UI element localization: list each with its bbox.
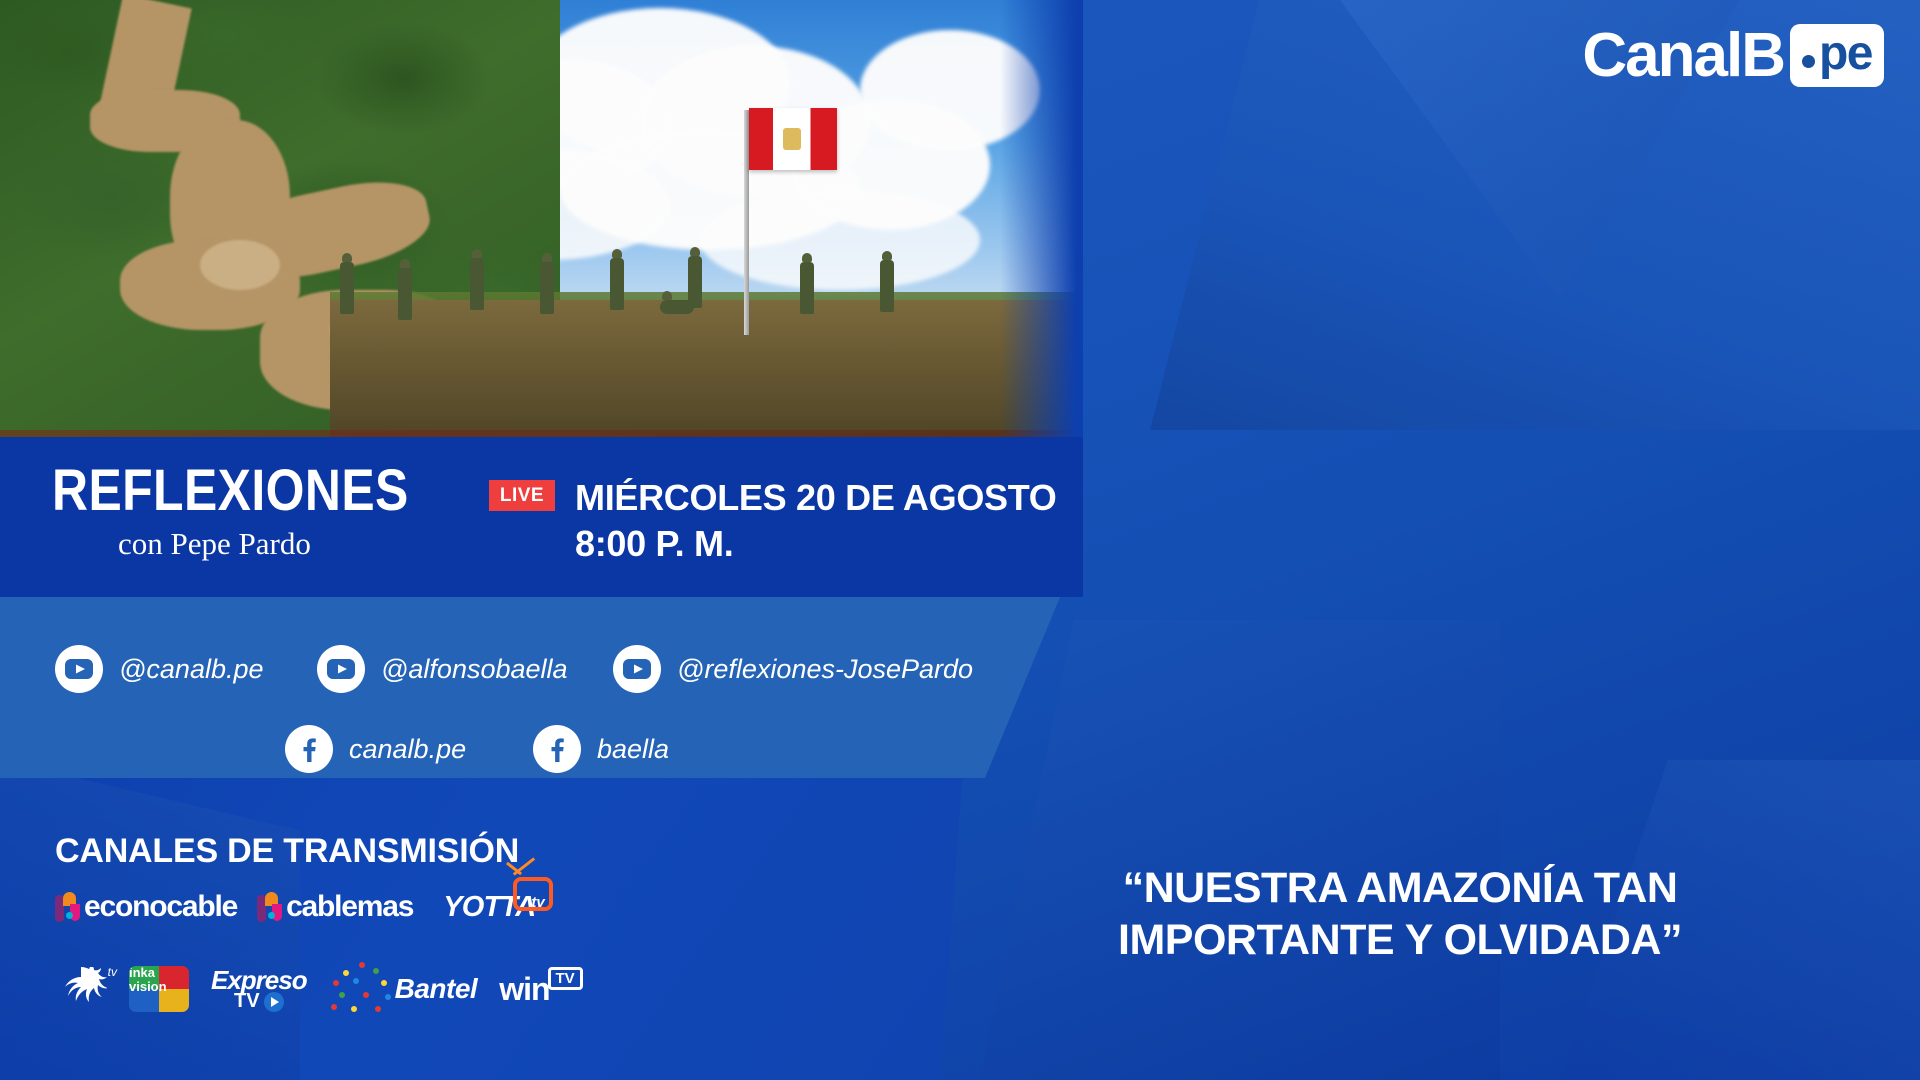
- channel-logo-yotta-tv: YOTTA tv: [443, 891, 544, 924]
- soldier-figure: [880, 260, 894, 312]
- inka-line-1: inka: [129, 966, 189, 980]
- social-link-youtube-reflexiones[interactable]: @reflexiones-JosePardo: [613, 645, 973, 693]
- inka-vision-label: inka vision: [129, 966, 189, 1012]
- channel-suffix: TV: [548, 967, 583, 990]
- social-handle: baella: [597, 734, 669, 765]
- play-icon: [264, 992, 284, 1012]
- youtube-glyph: [623, 659, 651, 679]
- youtube-glyph: [327, 659, 355, 679]
- channel-logo-cablemas: cablemas: [257, 890, 413, 924]
- social-handle: @canalb.pe: [119, 654, 264, 685]
- social-link-youtube-alfonsobaella[interactable]: @alfonsobaella: [317, 645, 568, 693]
- social-link-facebook-canalb[interactable]: canalb.pe: [285, 725, 466, 773]
- facebook-glyph: [544, 736, 570, 762]
- channel-suffix: TV: [234, 990, 260, 1013]
- channel-name: cablemas: [286, 890, 413, 924]
- palm-tree-icon: tv: [55, 967, 107, 1011]
- cloud: [700, 190, 980, 290]
- channel-name: win: [499, 971, 549, 1008]
- facebook-icon: [533, 725, 581, 773]
- soldier-figure: [610, 258, 624, 310]
- yotta-tv-icon: [513, 877, 553, 911]
- facebook-icon: [285, 725, 333, 773]
- social-handle: canalb.pe: [349, 734, 466, 765]
- broadcast-time: 8:00 P. M.: [575, 523, 733, 565]
- riverbank-soil: [330, 300, 1083, 437]
- channel-suffix: tv: [108, 965, 117, 979]
- econocable-mark-icon: [55, 892, 81, 922]
- live-badge: LIVE: [489, 480, 555, 511]
- show-host: con Pepe Pardo: [118, 526, 311, 562]
- soldier-figure: [340, 262, 354, 314]
- soldier-figure: [470, 258, 484, 310]
- banner-edge: [0, 430, 1083, 437]
- inka-vision-icon: inka vision: [129, 966, 189, 1012]
- broadcast-date: MIÉRCOLES 20 DE AGOSTO: [575, 477, 1057, 519]
- channel-logo-bantel: Bantel: [329, 962, 478, 1016]
- inka-line-2: vision: [129, 980, 189, 994]
- page-title: REFLEXIONES: [52, 457, 409, 524]
- channel-logos-row-2: tv inka vision Expreso TV: [55, 962, 583, 1016]
- channel-logo-palm-tv: tv: [55, 967, 107, 1011]
- social-link-youtube-canalb[interactable]: @canalb.pe: [55, 645, 264, 693]
- peru-flag: [749, 108, 837, 170]
- social-link-facebook-baella[interactable]: baella: [533, 725, 669, 773]
- cablemas-mark-icon: [257, 892, 283, 922]
- channel-name: econocable: [84, 890, 237, 924]
- channel-name: Bantel: [395, 973, 478, 1005]
- promo-graphic: CanalB pe REFLEXIONES con Pepe Pardo LIV…: [0, 0, 1920, 1080]
- channel-logos-row-1: econocable cablemas YOTTA tv: [55, 890, 545, 924]
- channel-logo-econocable: econocable: [55, 890, 237, 924]
- channel-logo-inka-vision: inka vision: [129, 966, 189, 1012]
- sandbar: [200, 240, 280, 290]
- youtube-icon: [317, 645, 365, 693]
- soldier-prone: [660, 300, 694, 314]
- channel-logo-expreso-tv: Expreso TV: [211, 965, 307, 1013]
- channels-heading: CANALES DE TRANSMISIÓN: [55, 832, 519, 871]
- soldier-figure: [540, 262, 554, 314]
- youtube-glyph: [65, 659, 93, 679]
- youtube-icon: [613, 645, 661, 693]
- social-handle: @reflexiones-JosePardo: [677, 654, 973, 685]
- social-handle: @alfonsobaella: [381, 654, 568, 685]
- flag-crest-icon: [783, 128, 801, 150]
- bantel-dots-icon: [329, 962, 401, 1016]
- soldier-figure: [800, 262, 814, 314]
- expreso-tv-row: TV: [234, 990, 284, 1013]
- soldier-figure: [398, 268, 412, 320]
- youtube-icon: [55, 645, 103, 693]
- episode-headline: “NUESTRA AMAZONÍA TAN IMPORTANTE Y OLVID…: [1000, 862, 1800, 967]
- banner-fade: [1000, 0, 1083, 437]
- amazon-photo-banner: [0, 0, 1083, 437]
- channel-logo-win-tv: win TV: [499, 971, 583, 1008]
- facebook-glyph: [296, 736, 322, 762]
